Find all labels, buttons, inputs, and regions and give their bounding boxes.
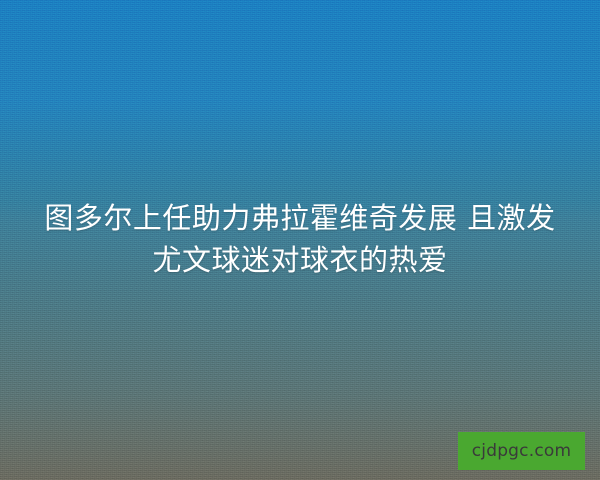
cover-image-canvas: 图多尔上任助力弗拉霍维奇发展 且激发 尤文球迷对球衣的热爱 cjdpgc.com: [0, 0, 600, 480]
headline-text: 图多尔上任助力弗拉霍维奇发展 且激发 尤文球迷对球衣的热爱: [0, 197, 600, 281]
watermark-badge: cjdpgc.com: [458, 432, 585, 470]
watermark-label: cjdpgc.com: [472, 443, 572, 460]
